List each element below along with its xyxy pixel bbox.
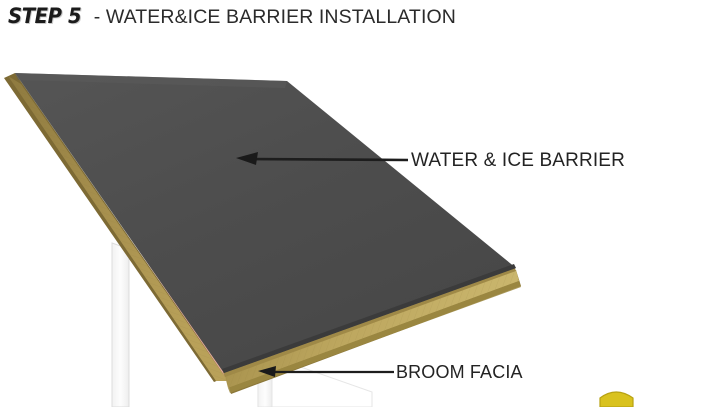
illustration-canvas: STEP 5 - WATER&ICE BARRIER INSTALLATION	[0, 0, 714, 407]
yellow-marker	[600, 392, 633, 407]
roof-deck-isometric-diagram	[0, 0, 714, 407]
callout-label-broom-facia: BROOM FACIA	[396, 362, 523, 383]
water-ice-barrier-membrane	[15, 73, 516, 373]
support-post	[112, 243, 129, 407]
callout-label-water-ice-barrier: WATER & ICE BARRIER	[411, 150, 625, 172]
